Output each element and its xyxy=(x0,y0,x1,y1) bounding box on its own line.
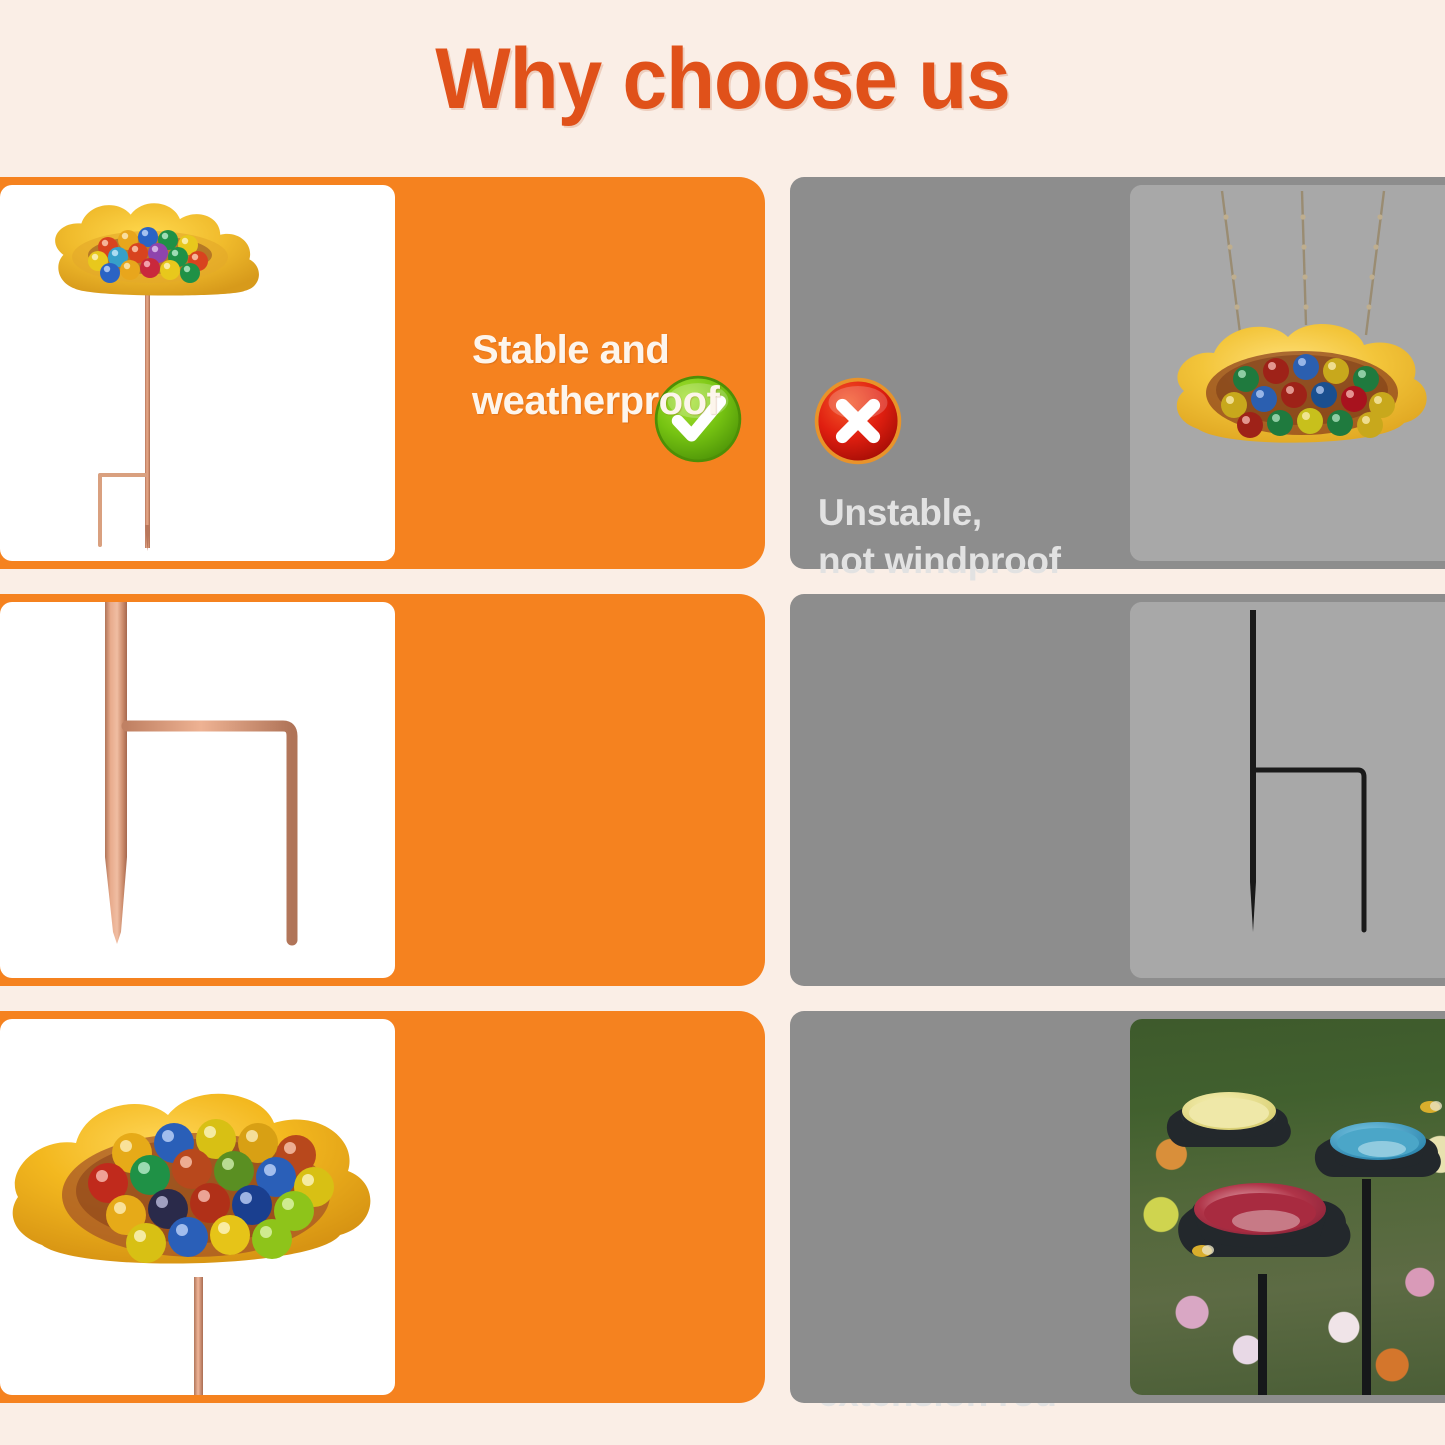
comparison-row-1: Stable and weatherproof Unstable, not wi… xyxy=(0,177,1445,569)
pro-image-panel-2 xyxy=(0,602,395,978)
con-card-2 xyxy=(790,594,1445,986)
infographic-page: Why choose us xyxy=(0,0,1445,1445)
pro-card-2 xyxy=(0,594,765,986)
pro-image-panel-3 xyxy=(0,1019,395,1395)
page-title: Why choose us xyxy=(51,30,1395,129)
con-image-panel-1 xyxy=(1130,185,1445,561)
con-label-1-line1: Unstable, xyxy=(818,492,982,533)
small-bowl-feeders-in-garden-image xyxy=(1130,1019,1445,1395)
pro-label-1-line1: Stable and xyxy=(472,328,669,372)
con-label-1-line2: not windproof xyxy=(818,540,1061,581)
pro-label-1: Stable and weatherproof xyxy=(472,325,772,427)
con-image-panel-2 xyxy=(1130,602,1445,978)
pro-label-1-line2: weatherproof xyxy=(472,379,719,423)
con-card-3 xyxy=(790,1011,1445,1403)
flower-birdbath-on-stake-image xyxy=(0,185,395,561)
comparison-row-2: Thick,long extension rod Thin,short exte… xyxy=(0,594,1445,986)
comparison-row-3: Greater capacity Small capacity, rapid e… xyxy=(0,1011,1445,1403)
pro-image-panel-1 xyxy=(0,185,395,561)
con-image-panel-3 xyxy=(1130,1019,1445,1395)
large-flower-bowl-with-marbles-image xyxy=(0,1019,395,1395)
hanging-birdbath-with-chains-image xyxy=(1130,185,1445,561)
thin-black-extension-rod-image xyxy=(1130,602,1445,978)
con-label-1: Unstable, not windproof xyxy=(818,489,1108,585)
x-badge xyxy=(812,375,904,467)
pro-card-3 xyxy=(0,1011,765,1403)
thick-copper-extension-rod-image xyxy=(0,602,395,978)
